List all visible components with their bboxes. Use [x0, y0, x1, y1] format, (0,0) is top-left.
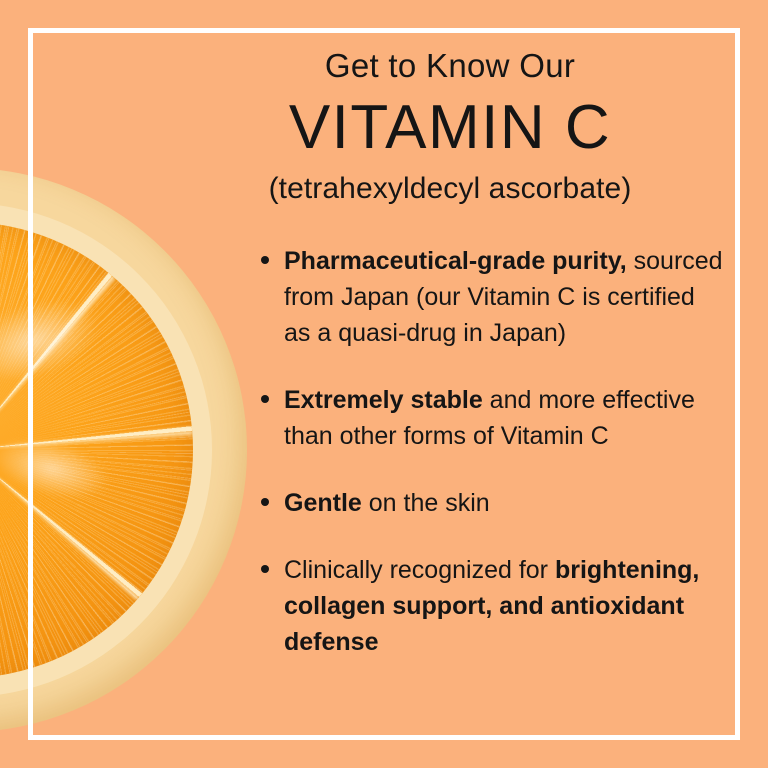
list-item: Clinically recognized for brightening, c…: [258, 552, 726, 660]
list-item: Extremely stable and more effective than…: [258, 382, 726, 454]
bullet-bold-lead: Gentle: [284, 489, 362, 517]
page-title: VITAMIN C: [180, 91, 720, 164]
list-item: Gentle on the skin: [258, 485, 726, 521]
vitamin-c-info-poster: Get to Know Our VITAMIN C (tetrahexyldec…: [0, 0, 768, 768]
bullet-dot-icon: [261, 395, 269, 403]
bullet-dot-icon: [261, 498, 269, 506]
bullet-dot-icon: [261, 565, 269, 573]
bullet-text: Clinically recognized for: [284, 556, 555, 584]
benefits-list: Pharmaceutical-grade purity, sourced fro…: [258, 243, 726, 660]
subtitle-text: (tetrahexyldecyl ascorbate): [180, 171, 720, 207]
bullet-bold-lead: Extremely stable: [284, 386, 483, 414]
eyebrow-text: Get to Know Our: [180, 48, 720, 85]
list-item: Pharmaceutical-grade purity, sourced fro…: [258, 243, 726, 351]
bullet-bold-lead: Pharmaceutical-grade purity,: [284, 247, 627, 275]
bullet-dot-icon: [261, 256, 269, 264]
poster-content: Get to Know Our VITAMIN C (tetrahexyldec…: [0, 0, 768, 768]
bullet-text: on the skin: [362, 489, 490, 517]
heading-block: Get to Know Our VITAMIN C (tetrahexyldec…: [180, 48, 720, 207]
